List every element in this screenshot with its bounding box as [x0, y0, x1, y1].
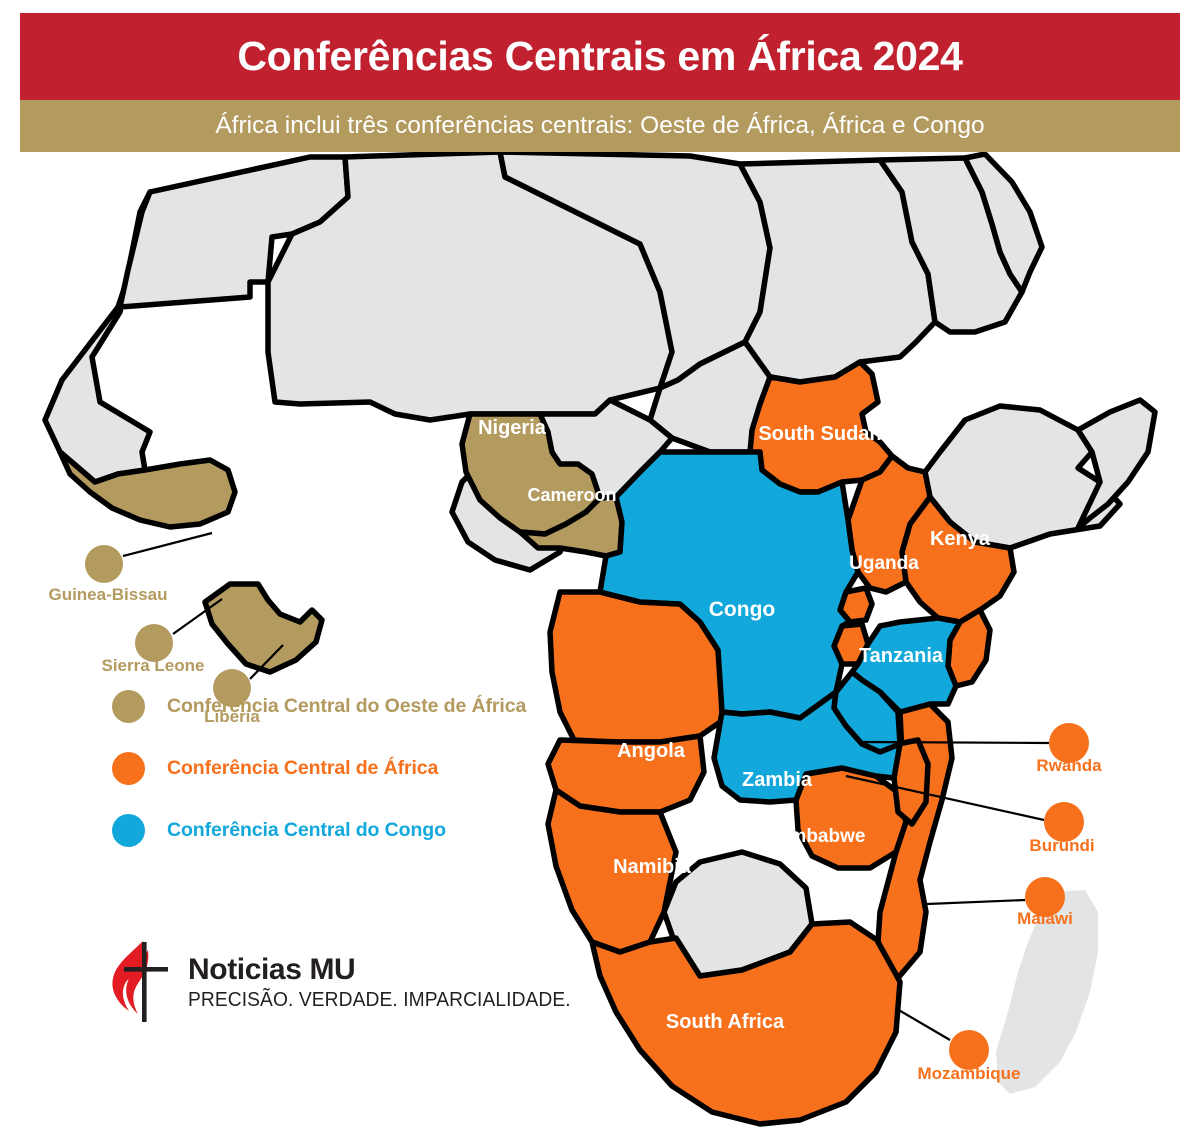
- map-label-nigeria: Nigeria: [478, 417, 547, 439]
- page-subtitle: África inclui três conferências centrais…: [215, 112, 984, 140]
- cross-and-flame-icon: [110, 938, 172, 1026]
- legend-dot-congo-icon: [112, 814, 145, 847]
- legend-dot-africa-icon: [112, 752, 145, 785]
- brand-logo[interactable]: Noticias MU PRECISÃO. VERDADE. IMPARCIAL…: [110, 938, 587, 1026]
- map-label-senegal: Senegal: [160, 349, 233, 370]
- map-label-congo: Congo: [709, 598, 775, 621]
- callout-label-rwanda: Rwanda: [1036, 756, 1102, 775]
- map-label-kenya: Kenya: [930, 528, 991, 550]
- map-label-south-sudan: South Sudan: [758, 423, 881, 445]
- map-label-cameroon: Cameroon: [527, 485, 616, 505]
- legend-label-congo: Conferência Central do Congo: [167, 819, 446, 842]
- logo-tagline: PRECISÃO. VERDADE. IMPARCIALIDADE.: [188, 990, 571, 1010]
- legend-item-west-africa[interactable]: Conferência Central do Oeste de África: [112, 675, 582, 737]
- legend-item-congo[interactable]: Conferência Central do Congo: [112, 799, 582, 861]
- callout-dot-guinea-bissau[interactable]: [85, 545, 123, 583]
- legend-label-west-africa: Conferência Central do Oeste de África: [167, 695, 526, 718]
- callout-label-malawi: Malawi: [1017, 909, 1073, 928]
- map-label-south-africa: South Africa: [666, 1011, 785, 1033]
- callout-leader-malawi: [927, 900, 1025, 904]
- map-label-tanzania: Tanzania: [859, 645, 944, 667]
- page-title-banner: Conferências Centrais em África 2024: [20, 13, 1180, 100]
- callout-label-guinea-bissau: Guinea-Bissau: [48, 585, 167, 604]
- legend-item-africa[interactable]: Conferência Central de África: [112, 737, 582, 799]
- page-subtitle-banner: África inclui três conferências centrais…: [20, 100, 1180, 152]
- callout-leader-guinea-bissau: [123, 533, 212, 556]
- callout-label-burundi: Burundi: [1029, 836, 1094, 855]
- callout-label-sierra-leone: Sierra Leone: [102, 656, 205, 675]
- legend-label-africa: Conferência Central de África: [167, 757, 438, 780]
- map-label-zambia: Zambia: [742, 769, 813, 791]
- map-label-zimbabwe: Zimbabwe: [773, 826, 866, 847]
- map-label-namibia: Namibia: [613, 856, 692, 878]
- map-label-uganda: Uganda: [849, 553, 919, 574]
- callout-leader-rwanda: [862, 742, 1049, 743]
- map-legend: Conferência Central do Oeste de África C…: [112, 675, 582, 861]
- logo-name: Noticias MU: [188, 955, 587, 985]
- legend-dot-west-africa-icon: [112, 690, 145, 723]
- callout-label-mozambique: Mozambique: [918, 1064, 1021, 1083]
- map-label-angola: Angola: [617, 740, 686, 762]
- page-title: Conferências Centrais em África 2024: [237, 33, 962, 80]
- callout-leader-mozambique: [897, 1009, 950, 1040]
